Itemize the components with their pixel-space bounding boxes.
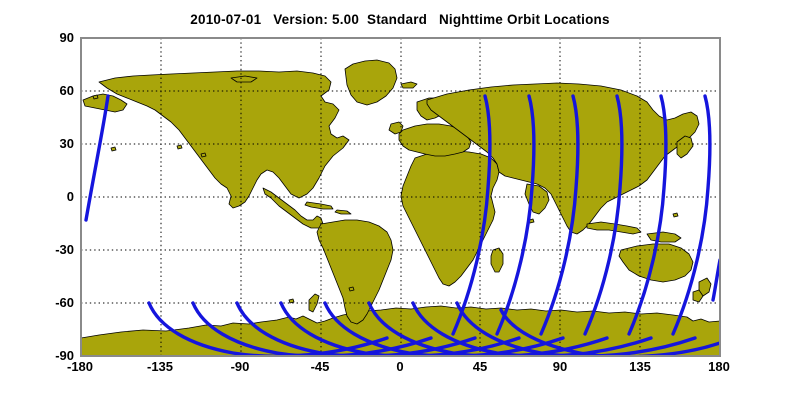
x-tick-label: -135 [140,360,180,373]
x-tick-label: 180 [699,360,739,373]
x-tick-label: -45 [300,360,340,373]
x-axis-tick-labels: -180 -135 -90 -45 0 45 90 135 180 [0,360,800,380]
land-island-speck-5 [349,287,354,291]
land-madagascar [491,248,503,272]
land-island-speck-8 [673,213,678,217]
x-tick-label: 0 [380,360,420,373]
orbit-map-figure: 2010-07-01 Version: 5.00 Standard Nightt… [0,0,800,400]
land-island-speck-2 [201,153,206,157]
land-island-speck-3 [111,147,116,151]
land-island-speck-4 [93,95,98,99]
y-axis-tick-labels: 90 60 30 0 -30 -60 -90 [0,0,74,400]
map-plot-area[interactable] [80,37,721,357]
y-tick-label: -60 [4,296,74,309]
y-tick-label: -30 [4,243,74,256]
x-tick-label: -180 [60,360,100,373]
y-tick-label: 60 [4,84,74,97]
y-tick-label: 30 [4,137,74,150]
x-tick-label: 90 [540,360,580,373]
page-title: 2010-07-01 Version: 5.00 Standard Nightt… [0,12,800,27]
land-island-speck-1 [177,145,182,149]
x-tick-label: 45 [460,360,500,373]
x-tick-label: 135 [620,360,660,373]
world-map-svg [81,38,720,356]
y-tick-label: 90 [4,31,74,44]
land-island-speck-7 [289,299,294,303]
x-tick-label: -90 [220,360,260,373]
y-tick-label: 0 [4,190,74,203]
